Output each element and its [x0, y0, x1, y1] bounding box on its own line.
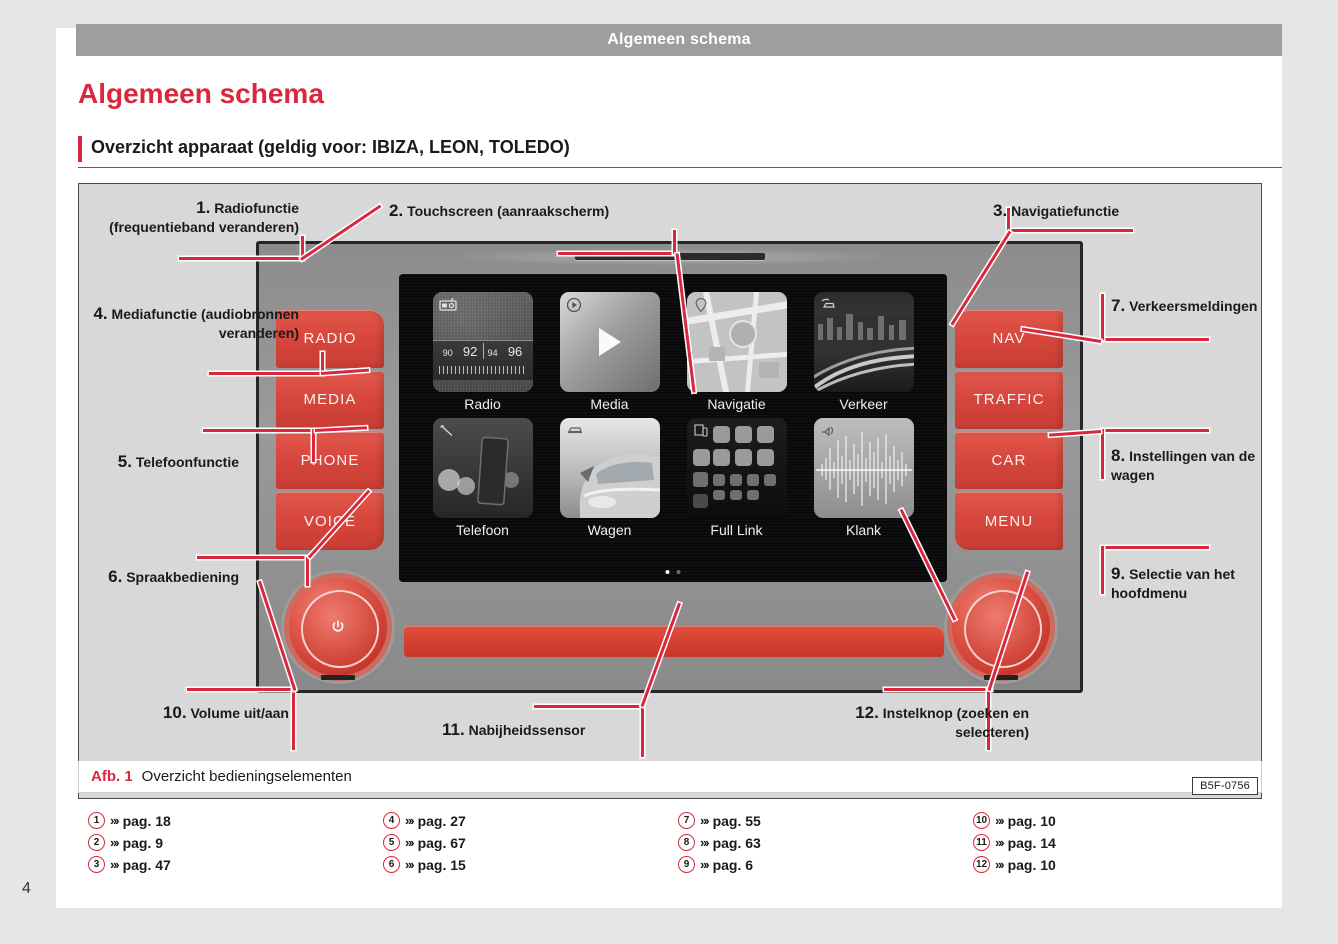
callout-5: 5. Telefoonfunctie: [89, 452, 239, 473]
callout-5-text: Telefoonfunctie: [136, 454, 239, 470]
power-volume-knob[interactable]: [289, 578, 387, 676]
callout-7-text: Verkeersmeldingen: [1129, 298, 1257, 314]
figure-caption-text: Overzicht bedieningselementen: [142, 768, 352, 785]
button-traffic[interactable]: TRAFFIC: [955, 371, 1063, 429]
tile-telefoon[interactable]: Telefoon: [427, 418, 538, 538]
callout-11-text: Nabijheidssensor: [469, 722, 586, 738]
right-knob-marker: [984, 675, 1018, 680]
ref-text-3: pag. 47: [123, 857, 171, 873]
callout-9-number: 9.: [1111, 564, 1125, 583]
ref-text-10: pag. 10: [1008, 813, 1056, 829]
callout-10-text: Volume uit/aan: [190, 705, 289, 721]
tile-radio-label: Radio: [464, 396, 501, 412]
ref-text-1: pag. 18: [123, 813, 171, 829]
ref-badge-1: 1: [88, 812, 105, 829]
page-number: 4: [22, 880, 31, 898]
ref-text-4: pag. 27: [418, 813, 466, 829]
callout-7: 7. Verkeersmeldingen: [1111, 296, 1261, 317]
tile-full-link-label: Full Link: [710, 522, 762, 538]
callout-4-number: 4.: [93, 304, 107, 323]
figure-overview-diagram: 1. Radiofunctie (frequentieband verander…: [78, 183, 1262, 799]
button-menu[interactable]: MENU: [955, 492, 1063, 550]
traffic-car-icon: [820, 297, 838, 311]
callout-4: 4. Mediafunctie (audiobronnen veranderen…: [89, 304, 299, 342]
leader-4-horizontal: [209, 372, 323, 375]
ref-column-2: 4 »› pag. 27 5 »› pag. 67 6 »› pag. 15: [383, 812, 678, 873]
ref-badge-7: 7: [678, 812, 695, 829]
callout-3-text: Navigatiefunctie: [1011, 203, 1119, 219]
tile-verkeer-thumb[interactable]: [814, 292, 914, 392]
tile-verkeer-label: Verkeer: [839, 396, 887, 412]
section-divider: [78, 167, 1282, 168]
tile-wagen-label: Wagen: [588, 522, 632, 538]
ref-item-11[interactable]: 11 »› pag. 14: [973, 834, 1268, 851]
ref-text-9: pag. 6: [713, 857, 753, 873]
ref-item-5[interactable]: 5 »› pag. 67: [383, 834, 678, 851]
callout-1: 1. Radiofunctie (frequentieband verander…: [89, 198, 299, 236]
speaker-waves-icon: [820, 423, 836, 437]
callout-6: 6. Spraakbediening: [89, 567, 239, 588]
callout-4-text: Mediafunctie (audiobronnen veranderen): [112, 306, 299, 341]
map-pin-icon: [693, 297, 709, 313]
button-phone[interactable]: PHONE: [276, 432, 384, 490]
leader-12-horizontal: [884, 688, 992, 691]
tile-navigatie-label: Navigatie: [707, 396, 765, 412]
ref-item-10[interactable]: 10 »› pag. 10: [973, 812, 1268, 829]
tile-media[interactable]: Media: [554, 292, 665, 412]
ref-column-1: 1 »› pag. 18 2 »› pag. 9 3 »› pag. 47: [88, 812, 383, 873]
ref-column-3: 7 »› pag. 55 8 »› pag. 63 9 »› pag. 6: [678, 812, 973, 873]
callout-12-number: 12.: [855, 703, 879, 722]
figure-caption: Afb. 1 Overzicht bedieningselementen: [78, 761, 1262, 793]
ref-item-1[interactable]: 1 »› pag. 18: [88, 812, 383, 829]
callout-9-text: Selectie van het hoofdmenu: [1111, 566, 1235, 601]
callout-10: 10. Volume uit/aan: [149, 703, 289, 724]
radio-icon: [439, 297, 457, 311]
leader-10-horizontal: [187, 688, 295, 691]
ref-badge-2: 2: [88, 834, 105, 851]
section-accent-bar: [78, 136, 82, 162]
radio-freq-94: 94: [488, 348, 498, 358]
callout-12-text: Instelknop (zoeken en selecteren): [883, 705, 1029, 740]
callout-5-number: 5.: [118, 452, 132, 471]
ref-arrow-icon: »›: [995, 835, 1003, 850]
ref-badge-8: 8: [678, 834, 695, 851]
pagination-dot-2[interactable]: [677, 570, 681, 574]
ref-badge-10: 10: [973, 812, 990, 829]
callout-6-text: Spraakbediening: [126, 569, 239, 585]
ref-text-6: pag. 15: [418, 857, 466, 873]
leader-7-vertical: [1101, 294, 1104, 340]
callout-10-number: 10.: [163, 703, 187, 722]
leader-6-vertical: [306, 556, 309, 586]
right-button-column: NAV TRAFFIC CAR MENU: [955, 310, 1063, 550]
smartphone-grid-icon: [693, 423, 709, 439]
tile-media-label: Media: [590, 396, 628, 412]
chapter-title: Algemeen schema: [78, 78, 324, 110]
button-car[interactable]: CAR: [955, 432, 1063, 490]
callout-3: 3. Navigatiefunctie: [993, 201, 1223, 222]
phone-handset-icon: [439, 423, 455, 439]
leader-5-vertical: [312, 429, 315, 462]
ref-badge-11: 11: [973, 834, 990, 851]
ref-arrow-icon: »›: [995, 813, 1003, 828]
radio-dial-ticks: [439, 366, 527, 374]
callout-3-number: 3.: [993, 201, 1007, 220]
leader-1-horizontal: [179, 257, 303, 260]
ref-item-6[interactable]: 6 »› pag. 15: [383, 856, 678, 873]
ref-item-8[interactable]: 8 »› pag. 63: [678, 834, 973, 851]
tune-select-knob[interactable]: [952, 578, 1050, 676]
ref-arrow-icon: »›: [405, 857, 413, 872]
callout-11-number: 11.: [442, 720, 465, 739]
callout-11: 11. Nabijheidssensor: [442, 720, 702, 741]
leader-11-horizontal: [534, 705, 644, 708]
ref-item-3[interactable]: 3 »› pag. 47: [88, 856, 383, 873]
ref-arrow-icon: »›: [700, 813, 708, 828]
ref-badge-9: 9: [678, 856, 695, 873]
callout-7-number: 7.: [1111, 296, 1125, 315]
ref-text-2: pag. 9: [123, 835, 163, 851]
leader-8-horizontal: [1101, 429, 1209, 432]
ref-item-2[interactable]: 2 »› pag. 9: [88, 834, 383, 851]
ref-text-12: pag. 10: [1008, 857, 1056, 873]
leader-8-vertical: [1101, 429, 1104, 479]
radio-frequency-dial: 90 92 94 96: [433, 340, 533, 380]
leader-9-horizontal: [1101, 546, 1209, 549]
callout-6-number: 6.: [108, 567, 122, 586]
ref-text-11: pag. 14: [1008, 835, 1056, 851]
car-icon: [566, 423, 584, 435]
figure-code: B5F-0756: [1192, 777, 1258, 795]
callout-2-text: Touchscreen (aanraakscherm): [407, 203, 609, 219]
leader-2-vertical: [673, 230, 676, 254]
tile-full-link[interactable]: Full Link: [681, 418, 792, 538]
tile-klank[interactable]: Klank: [808, 418, 919, 538]
ref-item-12[interactable]: 12 »› pag. 10: [973, 856, 1268, 873]
tile-klank-thumb[interactable]: [814, 418, 914, 518]
play-circle-icon: [566, 297, 582, 313]
tile-radio[interactable]: 90 92 94 96 Radio: [427, 292, 538, 412]
media-play-triangle: [599, 328, 621, 356]
ref-badge-6: 6: [383, 856, 400, 873]
callout-9: 9. Selectie van het hoofdmenu: [1111, 564, 1271, 602]
tile-telefoon-label: Telefoon: [456, 522, 509, 538]
leader-6-horizontal: [197, 556, 309, 559]
button-nav[interactable]: NAV: [955, 310, 1063, 368]
callout-2-number: 2.: [389, 201, 403, 220]
ref-badge-3: 3: [88, 856, 105, 873]
proximity-sensor-bar: [404, 626, 944, 657]
radio-freq-90: 90: [443, 348, 453, 358]
section-heading-title: Overzicht apparaat (geldig voor: IBIZA, …: [91, 137, 570, 158]
radio-dial-separator: [483, 343, 484, 359]
home-tile-grid: 90 92 94 96 Radio: [427, 292, 919, 538]
screen-pagination-dots[interactable]: [666, 570, 681, 574]
tile-verkeer[interactable]: Verkeer: [808, 292, 919, 412]
tile-radio-thumb[interactable]: 90 92 94 96: [433, 292, 533, 392]
ref-badge-12: 12: [973, 856, 990, 873]
ref-text-8: pag. 63: [713, 835, 761, 851]
tile-wagen-thumb[interactable]: [560, 418, 660, 518]
page-reference-list: 1 »› pag. 18 2 »› pag. 9 3 »› pag. 47 4 …: [88, 812, 1268, 873]
pagination-dot-1[interactable]: [666, 570, 670, 574]
touchscreen[interactable]: 90 92 94 96 Radio: [399, 274, 947, 582]
power-icon: [330, 619, 346, 635]
tile-full-link-thumb[interactable]: [687, 418, 787, 518]
tile-navigatie[interactable]: Navigatie: [681, 292, 792, 412]
section-heading: Overzicht apparaat (geldig voor: IBIZA, …: [78, 134, 1282, 168]
ref-arrow-icon: »›: [110, 857, 118, 872]
ref-text-7: pag. 55: [713, 813, 761, 829]
callout-2: 2. Touchscreen (aanraakscherm): [389, 201, 669, 222]
callout-8-text: Instellingen van de wagen: [1111, 448, 1255, 483]
tile-telefoon-thumb[interactable]: [433, 418, 533, 518]
callout-8: 8. Instellingen van de wagen: [1111, 446, 1271, 484]
ref-item-4[interactable]: 4 »› pag. 27: [383, 812, 678, 829]
tile-media-thumb[interactable]: [560, 292, 660, 392]
callout-12: 12. Instelknop (zoeken en selecteren): [779, 703, 1029, 741]
ref-item-7[interactable]: 7 »› pag. 55: [678, 812, 973, 829]
radio-freq-92: 92: [463, 344, 477, 359]
leader-2-horizontal: [558, 252, 676, 255]
ref-arrow-icon: »›: [110, 835, 118, 850]
running-header-title: Algemeen schema: [607, 31, 751, 49]
leader-7-horizontal: [1101, 338, 1209, 341]
leader-3-horizontal: [1009, 229, 1133, 232]
ref-arrow-icon: »›: [405, 835, 413, 850]
button-voice[interactable]: VOICE: [276, 492, 384, 550]
ref-arrow-icon: »›: [405, 813, 413, 828]
ref-column-4: 10 »› pag. 10 11 »› pag. 14 12 »› pag. 1…: [973, 812, 1268, 873]
ref-item-9[interactable]: 9 »› pag. 6: [678, 856, 973, 873]
callout-8-number: 8.: [1111, 446, 1125, 465]
button-media[interactable]: MEDIA: [276, 371, 384, 429]
ref-arrow-icon: »›: [700, 857, 708, 872]
tile-navigatie-thumb[interactable]: [687, 292, 787, 392]
leader-5-horizontal: [203, 429, 315, 432]
tile-wagen[interactable]: Wagen: [554, 418, 665, 538]
ref-text-5: pag. 67: [418, 835, 466, 851]
ref-badge-4: 4: [383, 812, 400, 829]
ref-badge-5: 5: [383, 834, 400, 851]
ref-arrow-icon: »›: [700, 835, 708, 850]
ref-arrow-icon: »›: [995, 857, 1003, 872]
left-knob-marker: [321, 675, 355, 680]
radio-freq-96: 96: [508, 344, 522, 359]
leader-9-vertical: [1101, 546, 1104, 594]
ref-arrow-icon: »›: [110, 813, 118, 828]
callout-1-number: 1.: [196, 198, 210, 217]
tile-klank-label: Klank: [846, 522, 881, 538]
running-header: Algemeen schema: [76, 24, 1282, 56]
figure-caption-tag: Afb. 1: [91, 768, 133, 785]
leader-10-vertical: [292, 688, 295, 750]
